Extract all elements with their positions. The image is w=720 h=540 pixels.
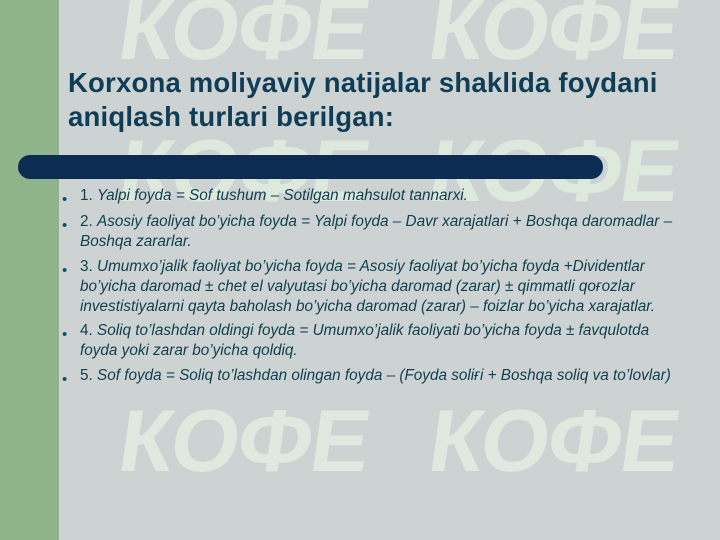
- list-item-text: 1. Yalpi foyda = Sof tushum – Sotilgan m…: [80, 186, 682, 206]
- list-item-number: 1.: [80, 187, 93, 204]
- list-item-body: Yalpi foyda = Sof tushum – Sotilgan mahs…: [97, 187, 468, 204]
- list-item-number: 5.: [80, 367, 93, 384]
- list-item-body: Sof foyda = Soliq to’lashdan olingan foy…: [97, 367, 671, 384]
- bullet-icon: •: [62, 372, 80, 387]
- watermark-text: КОФЕ: [113, 390, 375, 492]
- list-item: • 1. Yalpi foyda = Sof tushum – Sotilgan…: [62, 186, 682, 207]
- left-decorative-band: [0, 0, 59, 540]
- bullet-icon: •: [62, 327, 80, 342]
- list-item: • 4. Soliq to’lashdan oldingi foyda = Um…: [62, 321, 682, 361]
- list-item-number: 2.: [80, 213, 93, 230]
- slide: КОФЕ КОФЕ КОФЕ КОФЕ КОФЕ КОФЕ Korxona mo…: [0, 0, 720, 540]
- bullet-icon: •: [62, 263, 80, 278]
- list-item: • 5. Sof foyda = Soliq to’lashdan olinga…: [62, 366, 682, 387]
- list-item-body: Umumxo’jalik faoliyat bo’yicha foyda = A…: [80, 258, 655, 315]
- list-item-body: Asosiy faoliyat bo’yicha foyda = Yalpi f…: [80, 213, 672, 250]
- slide-title: Korxona moliyaviy natijalar shaklida foy…: [68, 66, 668, 133]
- list-item-number: 3.: [80, 258, 93, 275]
- list-item: • 2. Asosiy faoliyat bo’yicha foyda = Ya…: [62, 212, 682, 252]
- list-item-number: 4.: [80, 322, 93, 339]
- watermark-text: КОФЕ: [423, 390, 685, 492]
- list-item: • 3. Umumxo’jalik faoliyat bo’yicha foyd…: [62, 257, 682, 317]
- list-item-text: 2. Asosiy faoliyat bo’yicha foyda = Yalp…: [80, 212, 682, 252]
- bullet-list: • 1. Yalpi foyda = Sof tushum – Sotilgan…: [62, 186, 682, 392]
- bullet-icon: •: [62, 192, 80, 207]
- list-item-body: Soliq to’lashdan oldingi foyda = Umumxo’…: [80, 322, 649, 359]
- title-underline-bar: [18, 155, 603, 179]
- list-item-text: 5. Sof foyda = Soliq to’lashdan olingan …: [80, 366, 682, 386]
- bullet-icon: •: [62, 218, 80, 233]
- list-item-text: 4. Soliq to’lashdan oldingi foyda = Umum…: [80, 321, 682, 361]
- list-item-text: 3. Umumxo’jalik faoliyat bo’yicha foyda …: [80, 257, 682, 317]
